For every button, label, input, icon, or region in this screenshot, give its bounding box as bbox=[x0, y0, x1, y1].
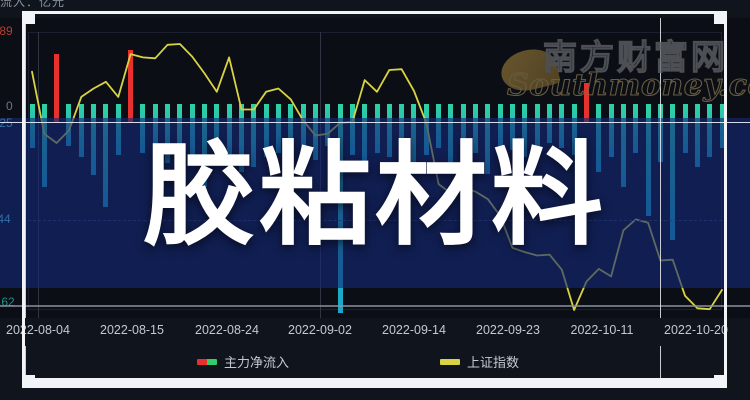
selection-handle-bottom-left[interactable] bbox=[22, 375, 35, 388]
selection-handle-top-right[interactable] bbox=[714, 11, 727, 24]
x-axis: 2022-08-042022-08-152022-08-242022-09-02… bbox=[0, 318, 750, 346]
x-axis-tick: 2022-08-24 bbox=[195, 323, 259, 337]
x-axis-tick: 2022-08-04 bbox=[6, 323, 70, 337]
page-title: 胶粘材料 bbox=[0, 140, 750, 252]
x-axis-tick: 2022-09-02 bbox=[288, 323, 352, 337]
y-axis-label: .25 bbox=[0, 116, 13, 130]
x-axis-tick: 2022-09-14 bbox=[382, 323, 446, 337]
legend-label: 主力净流入 bbox=[224, 352, 289, 371]
chart-legend: 主力净流入 上证指数 bbox=[0, 352, 750, 378]
baseline-grey bbox=[0, 305, 750, 307]
x-axis-tick: 2022-09-23 bbox=[476, 323, 540, 337]
selection-handle-top-left[interactable] bbox=[22, 11, 35, 24]
selection-bottom-bar[interactable] bbox=[22, 378, 727, 388]
legend-item-main-net-inflow[interactable]: 主力净流入 bbox=[197, 352, 289, 371]
x-axis-tick: 2022-10-11 bbox=[570, 323, 633, 337]
legend-swatch-icon bbox=[197, 359, 217, 365]
x-axis-tick: 2022-10-20 bbox=[664, 323, 728, 337]
screenshot-root: 流入：亿元 .89 0 .25 .44 .62 南方财富网 Southmoney… bbox=[0, 0, 750, 400]
y-axis-label: .89 bbox=[0, 24, 13, 38]
x-axis-tick: 2022-08-15 bbox=[100, 323, 164, 337]
legend-item-shanghai-index[interactable]: 上证指数 bbox=[440, 352, 519, 371]
y-axis-label: 0 bbox=[6, 99, 13, 113]
selection-handle-bottom-right[interactable] bbox=[714, 375, 727, 388]
y-axis-unit-caption: 流入：亿元 bbox=[0, 0, 65, 10]
zero-line bbox=[0, 122, 750, 123]
legend-label: 上证指数 bbox=[467, 352, 519, 371]
chart-header-strip: 流入：亿元 bbox=[0, 0, 750, 18]
legend-swatch-icon bbox=[440, 359, 460, 365]
